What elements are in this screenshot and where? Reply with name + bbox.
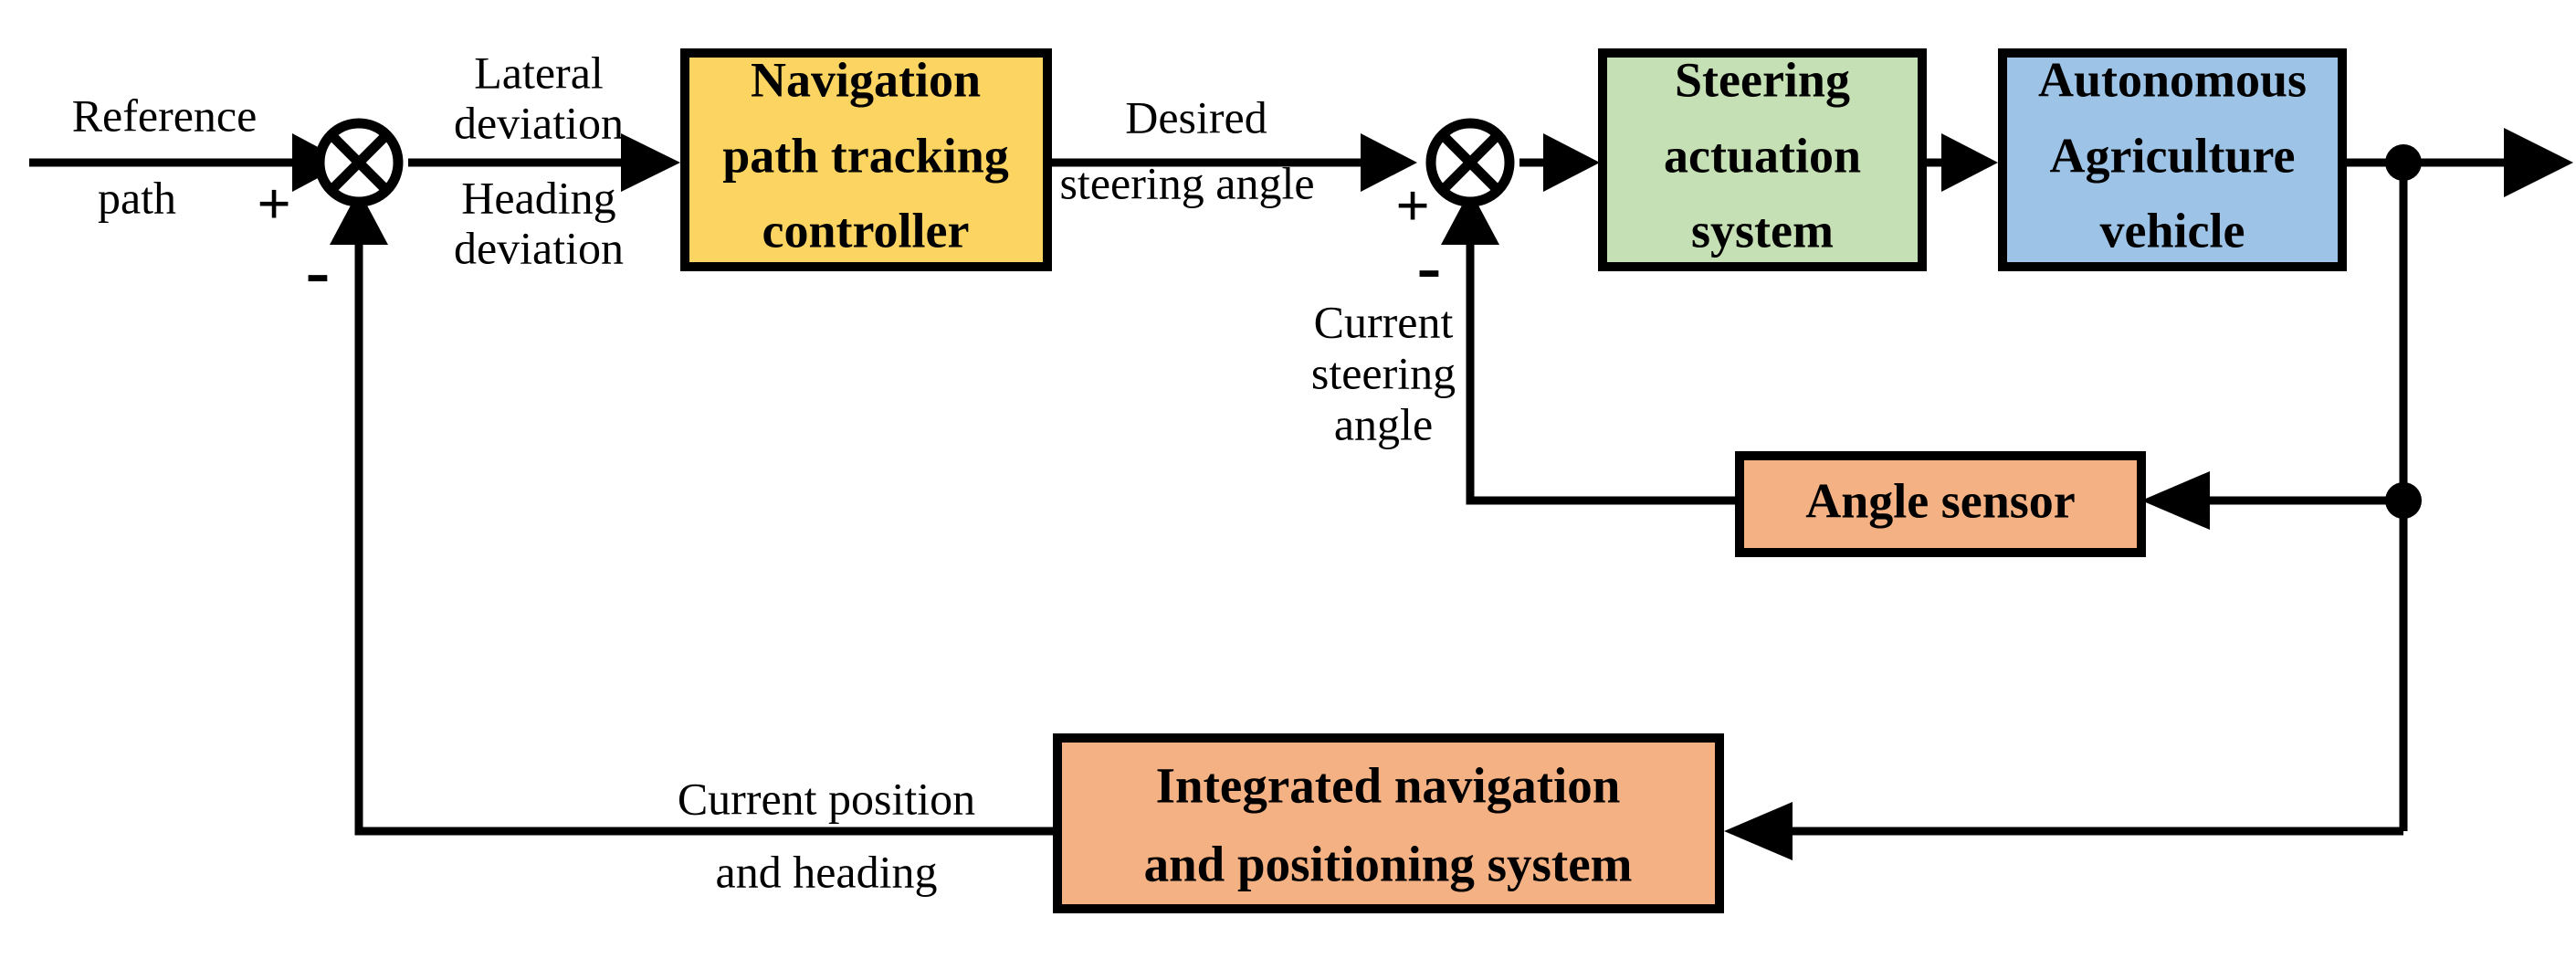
arrowhead-to-steering-actuation [1543,133,1600,192]
branch-dot-feedback [2385,482,2422,519]
sign-sum2-minus: - [1417,227,1442,307]
label-reference-path-line2: path [98,172,176,223]
arrowhead-to-autonomous-vehicle [1941,133,1998,192]
block-navigation-controller-label-line3: controller [762,203,970,258]
block-integrated-navigation-label-line2: and positioning system [1144,837,1633,892]
arrowhead-system-output [2504,128,2573,197]
branch-dot-output [2385,144,2422,181]
label-desired-steering-angle-line1: Desired [1125,91,1267,142]
block-steering-actuation-system[interactable]: Steering actuation system [1603,52,1922,267]
block-autonomous-agriculture-vehicle[interactable]: Autonomous Agriculture vehicle [2003,52,2342,267]
label-current-steering-angle-line2: steering [1311,347,1456,398]
label-lateral-deviation-line1: Lateral [474,47,604,98]
sign-sum1-plus: + [257,171,291,237]
label-lateral-deviation-line2: deviation [454,97,624,148]
block-navigation-path-tracking-controller[interactable]: Navigation path tracking controller [685,52,1047,267]
wire-reference-path [29,133,347,192]
block-autonomous-vehicle-label-line3: vehicle [2100,203,2245,258]
arrowhead-to-navigation-controller [621,133,680,192]
wire-steering-to-vehicle [1922,133,1998,192]
block-steering-actuation-label-line2: actuation [1664,128,1861,183]
wire-to-angle-sensor [2141,471,2403,530]
label-desired-steering-angle-line2: steering angle [1059,157,1314,208]
block-autonomous-vehicle-label-line2: Agriculture [2050,128,2296,183]
wire-sum2-to-steering [1519,133,1600,192]
block-integrated-navigation-label-line1: Integrated navigation [1156,758,1621,814]
arrowhead-to-angle-sensor [2141,471,2210,530]
block-angle-sensor-label: Angle sensor [1805,473,2076,528]
wire-to-integrated-navigation [1724,802,2403,860]
control-block-diagram: Navigation path tracking controller Stee… [0,0,2576,959]
block-steering-actuation-label-line3: system [1691,203,1834,258]
arrowhead-to-integrated-navigation [1724,802,1793,860]
label-current-steering-angle-line3: angle [1334,398,1433,449]
label-heading-deviation-line2: deviation [454,222,624,273]
label-reference-path-line1: Reference [72,90,258,141]
label-current-position-line1: Current position [678,773,975,824]
block-autonomous-vehicle-label-line1: Autonomous [2038,52,2307,107]
wire-vehicle-output [2342,128,2573,197]
sum-junction-2[interactable] [1431,123,1509,202]
sign-sum1-minus: - [306,231,331,311]
label-heading-deviation-line1: Heading [461,172,615,223]
label-current-position-line2: and heading [716,846,938,897]
block-navigation-controller-label-line2: path tracking [722,128,1009,183]
block-diagram-canvas: Navigation path tracking controller Stee… [0,0,2576,959]
block-integrated-navigation-positioning-system[interactable]: Integrated navigation and positioning sy… [1057,738,1719,909]
block-navigation-controller-label-line1: Navigation [751,52,981,107]
sum-junction-1[interactable] [320,123,398,202]
block-steering-actuation-label-line1: Steering [1675,52,1850,107]
block-angle-sensor[interactable]: Angle sensor [1740,456,2141,553]
wire-integrated-navigation-to-sum1 [330,190,1053,831]
